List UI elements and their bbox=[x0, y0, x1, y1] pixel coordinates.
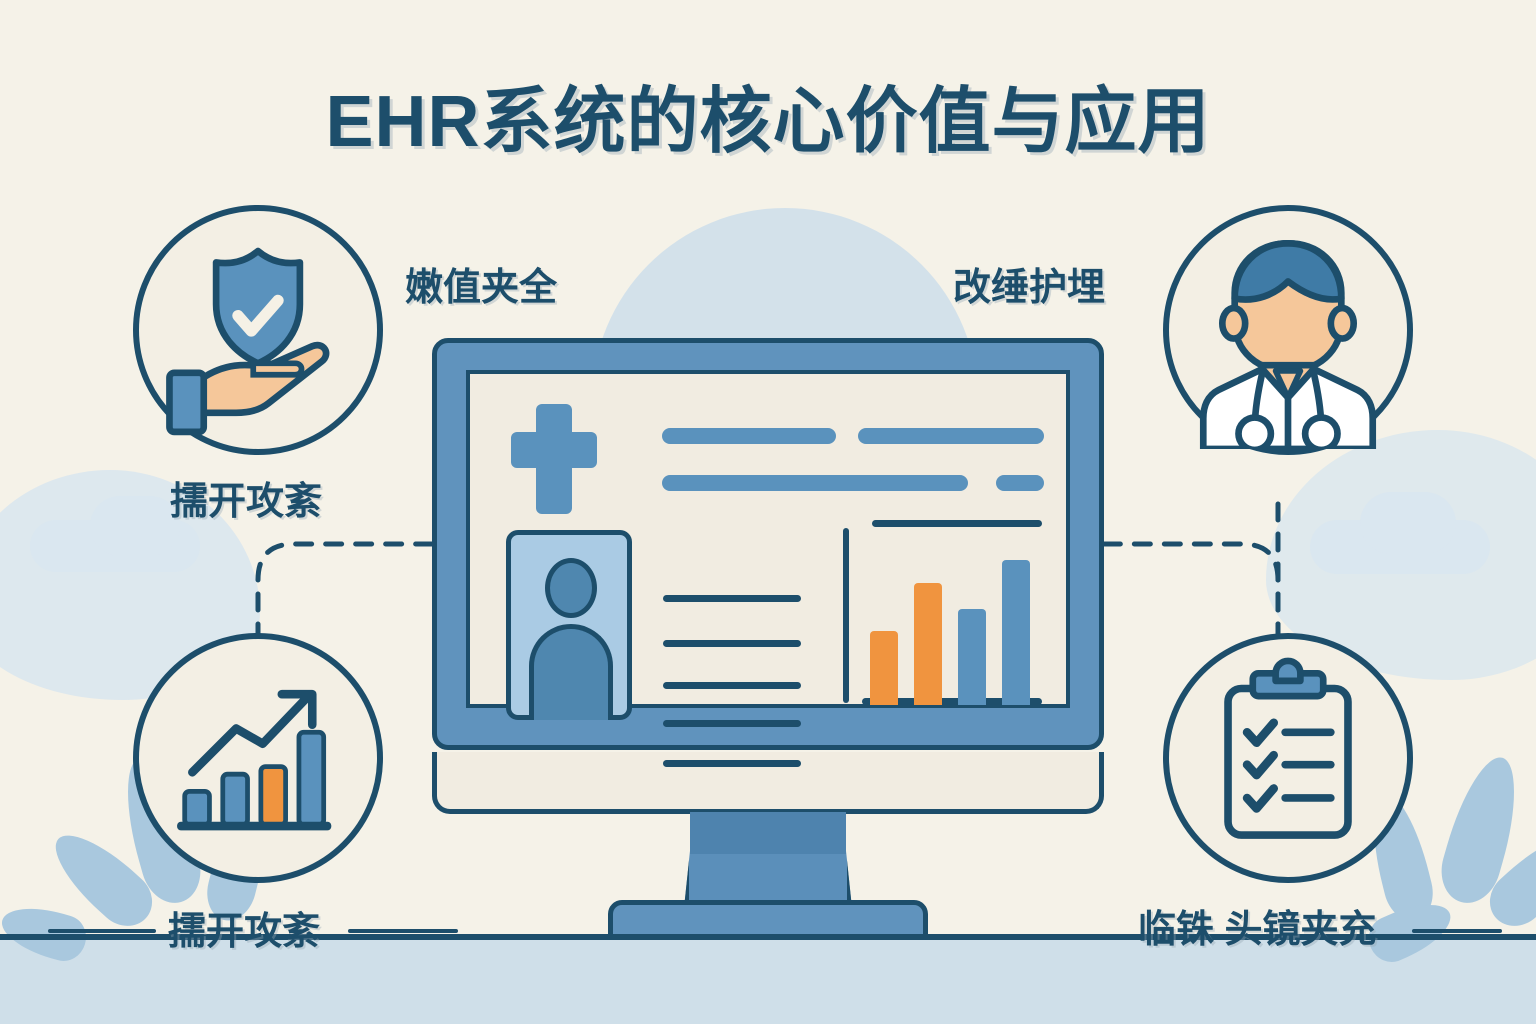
monitor-neck-highlight bbox=[690, 812, 846, 854]
screen-header-bar-3 bbox=[662, 475, 968, 491]
chart-bar bbox=[1002, 560, 1030, 705]
node-clinical-support[interactable] bbox=[1163, 633, 1413, 883]
label-improve-care: 改缍护埋 bbox=[953, 256, 1105, 311]
label-data-security: 嫩值夹全 bbox=[405, 256, 557, 311]
label-efficiency-top: 擩开攻紊 bbox=[170, 470, 322, 525]
screen-header-bar-4 bbox=[996, 475, 1044, 491]
screen-header-bar-1 bbox=[662, 428, 836, 444]
chart-bar bbox=[870, 631, 898, 705]
label-rule-right bbox=[1412, 929, 1502, 933]
screen-text-line bbox=[663, 720, 801, 727]
screen-text-line bbox=[663, 640, 801, 647]
shield-hand-icon bbox=[139, 211, 377, 449]
chart-bar bbox=[958, 609, 986, 705]
label-clinical-support: 临铢 头镜夹充 bbox=[1138, 898, 1377, 953]
screen-divider bbox=[843, 528, 849, 703]
node-improve-care[interactable] bbox=[1163, 205, 1413, 455]
screen-text-line bbox=[663, 682, 801, 689]
screen-header-bar-2 bbox=[858, 428, 1044, 444]
screen-bar-chart bbox=[862, 520, 1052, 705]
patient-avatar-body bbox=[529, 624, 613, 720]
node-data-security[interactable] bbox=[133, 205, 383, 455]
node-efficiency[interactable] bbox=[133, 633, 383, 883]
label-rule-left-2 bbox=[348, 929, 458, 933]
chart-top-rule bbox=[872, 520, 1042, 527]
infographic-canvas: EHR系统的核心价值与应用 bbox=[0, 0, 1536, 1024]
screen-text-line bbox=[663, 595, 801, 602]
screen-text-line bbox=[663, 760, 801, 767]
label-rule-left bbox=[48, 929, 156, 933]
clipboard-check-icon bbox=[1169, 639, 1407, 877]
chart-bar bbox=[914, 583, 942, 705]
patient-avatar-icon bbox=[545, 558, 597, 618]
growth-chart-icon bbox=[139, 639, 377, 877]
label-efficiency-bottom: 擩开攻紊 bbox=[168, 900, 320, 955]
medical-cross-icon-bar bbox=[511, 432, 597, 468]
doctor-icon bbox=[1169, 211, 1407, 449]
